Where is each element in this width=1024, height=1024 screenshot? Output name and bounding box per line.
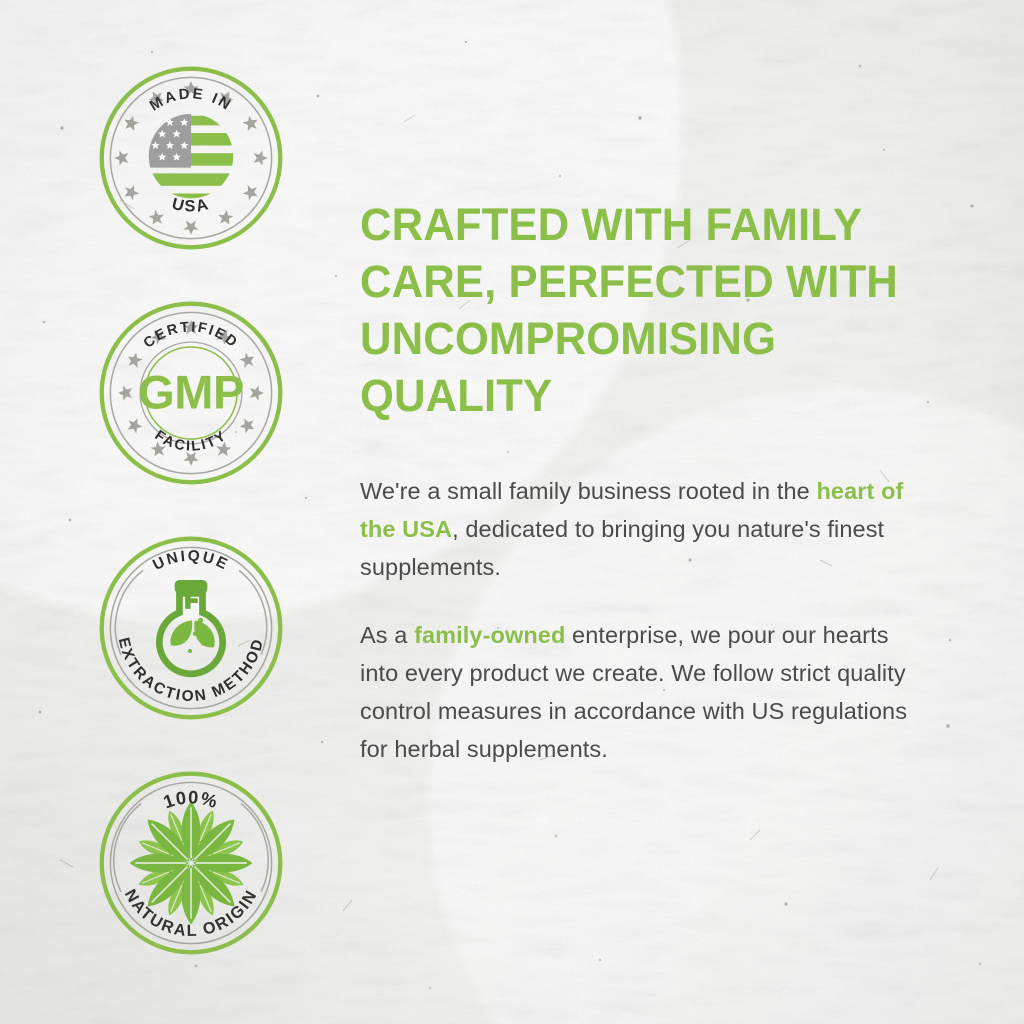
badge-natural-origin: 100% NATURAL ORIGIN <box>95 767 287 959</box>
badge-top-label: UNIQUE <box>150 548 232 574</box>
badge-unique-extraction-method: UNIQUE EXTRACTION METHOD <box>95 532 287 724</box>
badge-top-label: MADE IN <box>147 86 235 114</box>
page-title: CRAFTED WITH FAMILY CARE, PERFECTED WITH… <box>360 196 903 424</box>
paragraph-about-quality: As a family-owned enterprise, we pour ou… <box>360 616 920 768</box>
flask-with-leaves-icon <box>159 580 222 674</box>
content-column: CRAFTED WITH FAMILY CARE, PERFECTED WITH… <box>360 196 920 768</box>
poster-stage: MADE IN USA <box>0 0 1024 1024</box>
badge-bottom-label: FACILITY <box>152 427 231 454</box>
paragraph-about-business: We're a small family business rooted in … <box>360 472 920 586</box>
badge-bottom-label: USA <box>170 195 212 216</box>
highlight-family-owned: family-owned <box>414 622 565 648</box>
certification-badge-column: MADE IN USA <box>95 62 295 1002</box>
badge-made-in-usa: MADE IN USA <box>95 62 287 254</box>
paragraph-2-part-1: As a <box>360 622 414 648</box>
gmp-text-icon: GMP <box>138 365 244 418</box>
badge-gmp-certified-facility: GMP CERTIFIED FACILITY <box>95 297 287 489</box>
usa-flag-circle-icon <box>145 114 237 206</box>
paragraph-1-part-1: We're a small family business rooted in … <box>360 478 816 504</box>
